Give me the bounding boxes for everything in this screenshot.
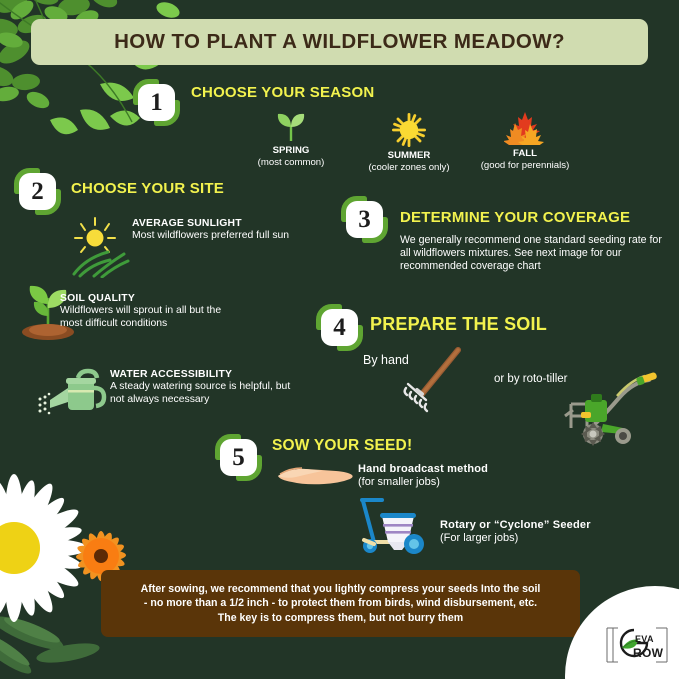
step-number-5: 5 [220,439,257,476]
season-option-fall: FALL (good for perennials) [466,111,584,172]
logo-text-eva: EVA [635,634,654,644]
info-soil-quality: SOIL QUALITY Wildflowers will sprout in … [60,292,245,330]
info-title-water-accessibility: WATER ACCESSIBILITY [110,368,295,381]
step-number-3: 3 [346,201,383,238]
step-heading-2: CHOOSE YOUR SITE [71,180,224,197]
sprout-icon [232,108,350,142]
footer-note-line-1: After sowing, we recommend that you ligh… [141,583,541,595]
brand-logo: EVA ROW [604,622,670,668]
info-coverage: We generally recommend one standard seed… [400,234,662,274]
info-body-water-accessibility: A steady watering source is helpful, but… [110,381,295,406]
maple-leaf-icon [466,111,584,145]
open-hand-icon [276,462,356,492]
season-note-spring: (most common) [232,157,350,169]
roto-tiller-icon [553,370,663,454]
season-note-fall: (good for perennials) [466,160,584,172]
step-heading-1: CHOOSE YOUR SEASON [191,84,374,101]
step-number-1: 1 [138,84,175,121]
season-note-summer: (cooler zones only) [350,162,468,174]
info-rotary-seeder: Rotary or “Cyclone” Seeder (For larger j… [440,519,640,545]
step-number-4: 4 [321,309,358,346]
step-badge-3: 3 [341,196,388,243]
step-number-2: 2 [19,173,56,210]
watering-can-icon [34,366,112,418]
rake-icon [400,346,464,416]
season-option-summer: SUMMER (cooler zones only) [350,113,468,174]
g-leaf-logo-icon [604,622,670,668]
info-title-soil-quality: SOIL QUALITY [60,292,245,305]
info-body-coverage: We generally recommend one standard seed… [400,234,662,274]
footer-note-line-3: The key is to compress them, but not bur… [218,612,463,624]
info-hand-broadcast: Hand broadcast method (for smaller jobs) [358,463,548,489]
footer-note-banner: After sowing, we recommend that you ligh… [101,570,580,637]
season-options: SPRING (most common) [232,108,584,168]
info-title-rotary-seeder: Rotary or “Cyclone” Seeder [440,519,640,532]
step-badge-5: 5 [215,434,262,481]
sun-over-field-icon [70,216,130,278]
sun-icon [350,113,468,147]
season-label-summer: SUMMER [350,150,468,162]
info-title-average-sunlight: AVERAGE SUNLIGHT [132,217,312,230]
info-body-soil-quality: Wildflowers will sprout in all but the m… [60,305,245,330]
info-average-sunlight: AVERAGE SUNLIGHT Most wildflowers prefer… [132,217,312,243]
info-title-hand-broadcast: Hand broadcast method [358,463,548,476]
seed-spreader-icon [352,496,438,558]
page-title: HOW TO PLANT A WILDFLOWER MEADOW? [114,30,565,54]
season-label-spring: SPRING [232,145,350,157]
page-title-banner: HOW TO PLANT A WILDFLOWER MEADOW? [31,19,648,65]
step-badge-1: 1 [133,79,180,126]
infographic-canvas: HOW TO PLANT A WILDFLOWER MEADOW? 1 CHOO… [0,0,679,679]
step-badge-2: 2 [14,168,61,215]
step-heading-5: SOW YOUR SEED! [272,437,412,455]
step-heading-3: DETERMINE YOUR COVERAGE [400,209,630,226]
season-option-spring: SPRING (most common) [232,108,350,169]
info-body-average-sunlight: Most wildflowers preferred full sun [132,230,312,243]
info-water-accessibility: WATER ACCESSIBILITY A steady watering so… [110,368,295,406]
step-badge-4: 4 [316,304,363,351]
footer-note-text: After sowing, we recommend that you ligh… [129,582,553,626]
footer-note-line-2: - no more than a 1/2 inch - to protect t… [144,597,537,609]
white-daisy-flower [0,448,148,679]
season-label-fall: FALL [466,148,584,160]
step-heading-4: PREPARE THE SOIL [370,314,547,335]
logo-text-grow: ROW [633,646,663,660]
info-body-rotary-seeder: (For larger jobs) [440,532,640,545]
info-body-hand-broadcast: (for smaller jobs) [358,476,548,489]
